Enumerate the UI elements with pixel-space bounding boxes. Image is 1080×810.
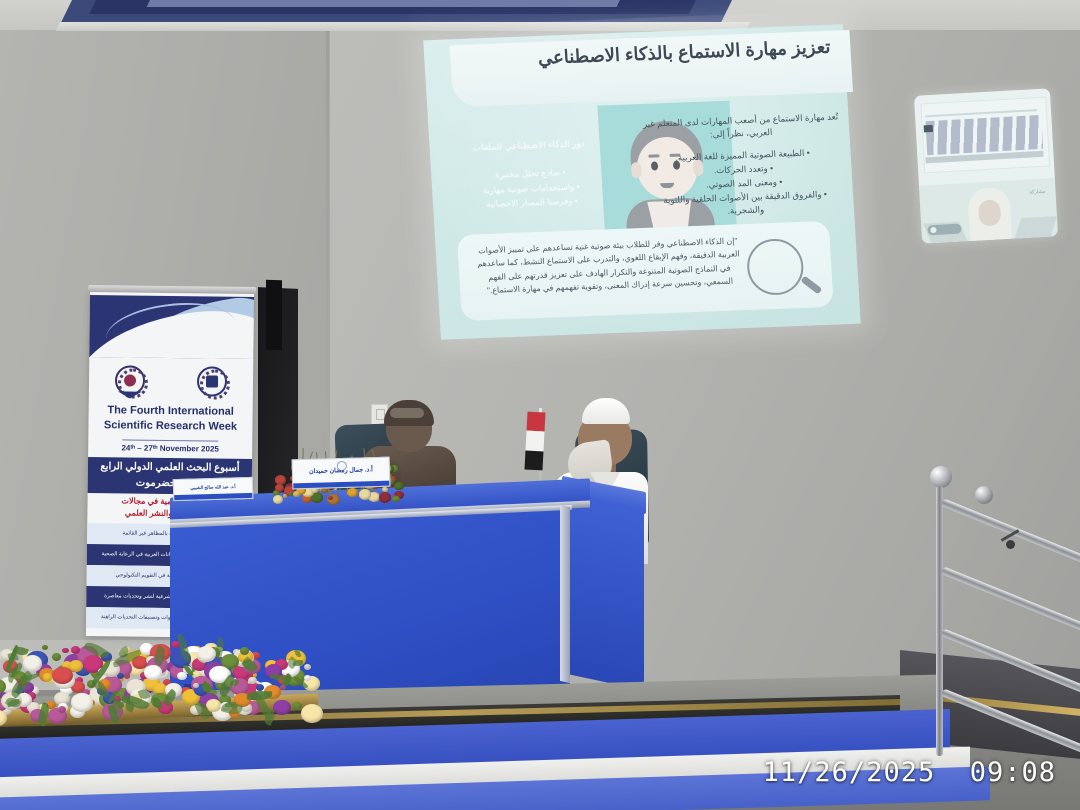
- shared-screen-badge: [924, 125, 933, 132]
- flower: [359, 489, 372, 500]
- desk-chrome-corner: [560, 505, 570, 683]
- flower: [273, 495, 283, 504]
- banner-top-rod: [88, 285, 256, 294]
- participant-face: [978, 199, 1001, 226]
- panelist-left-hair-grey: [390, 408, 424, 418]
- slide-left-line-3: • وفرصنا المسار الاحصائية: [486, 196, 578, 209]
- flower: [283, 494, 288, 498]
- toon-ear-left: [631, 162, 642, 178]
- flower: [301, 704, 323, 723]
- flower-arrangement: [0, 624, 328, 734]
- flower: [292, 702, 301, 710]
- ceiling-recess-highlight: [147, 0, 620, 7]
- flower: [43, 673, 53, 681]
- flower: [144, 665, 161, 680]
- banner-divider: [122, 439, 218, 441]
- flower: [23, 655, 42, 672]
- logo-core: [124, 374, 136, 386]
- panelist-right-cap: [582, 398, 630, 424]
- banner-title-en-line2: Scientific Research Week: [104, 419, 237, 433]
- railing-finial-front: [930, 466, 952, 488]
- flower: [58, 706, 66, 713]
- video-shared-screen: [914, 88, 1055, 185]
- video-mic-badge[interactable]: [927, 223, 962, 235]
- banner-dates: 24ᵗʰ – 27ᵗʰ November 2025: [94, 443, 246, 454]
- flower: [197, 646, 216, 662]
- slide-quote-text: "إن الذكاء الاصطناعي وفر للطلاب بيئة صوت…: [473, 234, 744, 298]
- conference-hall-photo: تعزيز مهارة الاستماع بالذكاء الاصطناعي د…: [0, 0, 1080, 810]
- flower: [71, 646, 80, 654]
- shared-screen-chart: [925, 115, 1043, 155]
- banner-header-graphic: [89, 295, 254, 359]
- magnifier-handle-icon: [800, 276, 822, 295]
- flower: [321, 488, 327, 493]
- nameplate-main-text: أ.د. جمال رمضان حميدان: [296, 466, 386, 476]
- foliage: [230, 679, 239, 686]
- slide-left-line-2: • واستخدامات صوتية مهارية: [482, 181, 579, 195]
- institute-crest-logo: [197, 366, 227, 396]
- nameplate-band: [174, 493, 252, 500]
- flower: [273, 700, 291, 715]
- banner-logos: [89, 363, 253, 399]
- remote-participant: [967, 187, 1012, 243]
- university-crest-logo: [115, 365, 145, 395]
- railing-post: [936, 486, 943, 756]
- flower: [382, 487, 388, 492]
- flower: [304, 664, 312, 670]
- flower: [289, 492, 293, 496]
- mic-dot-icon: [930, 227, 936, 233]
- flower: [52, 653, 62, 661]
- flower: [394, 482, 404, 490]
- camera-timestamp: 11/26/2025 09:08: [763, 757, 1056, 788]
- banner-title-en-line1: The Fourth International: [107, 404, 234, 418]
- ceiling-lip: [56, 22, 750, 31]
- flower: [347, 488, 358, 497]
- flower: [304, 675, 311, 681]
- flower: [392, 496, 400, 503]
- flower: [240, 647, 250, 655]
- flower: [379, 492, 391, 502]
- foliage: [225, 702, 237, 707]
- flower: [275, 484, 284, 491]
- dark-display-panel-edge: [266, 280, 282, 351]
- nameplate-side: أ.د. عبد الله صالح الشيبي: [173, 477, 254, 501]
- railing-wall-bracket: [1006, 540, 1015, 549]
- slide-right-text-block: تُعد مهارة الاستماع من أصعب المهارات لدى…: [640, 110, 846, 222]
- flower: [71, 693, 92, 711]
- slide-left-heading: دور الذكاء الاصطناعي للملفات: [443, 135, 614, 157]
- nameplate-main: أ.د. جمال رمضان حميدان: [292, 457, 391, 490]
- slide-left-text-block: دور الذكاء الاصطناعي للملفات • نماذج تحل…: [443, 135, 617, 213]
- slide-quote-card: "إن الذكاء الاصطناعي وفر للطلاب بيئة صوت…: [457, 221, 834, 321]
- flower: [42, 645, 48, 650]
- flower: [62, 648, 69, 654]
- slide-left-line-1: • نماذج تحلل مختبرة: [495, 167, 566, 180]
- magnifier-icon: [746, 238, 805, 296]
- nameplate-side-text: أ.د. عبد الله صالح الشيبي: [177, 484, 249, 492]
- logo2-core: [206, 375, 218, 387]
- railing-finial-back: [975, 486, 993, 504]
- banner-title-english: The Fourth International Scientific Rese…: [94, 403, 246, 435]
- desk-side-panel: [566, 492, 644, 691]
- video-call-tile[interactable]: مشاركة: [914, 88, 1058, 243]
- projected-slide: تعزيز مهارة الاستماع بالذكاء الاصطناعي د…: [423, 24, 861, 340]
- flower: [293, 491, 300, 497]
- flower: [52, 667, 72, 684]
- video-name-caption: مشاركة: [1029, 189, 1045, 196]
